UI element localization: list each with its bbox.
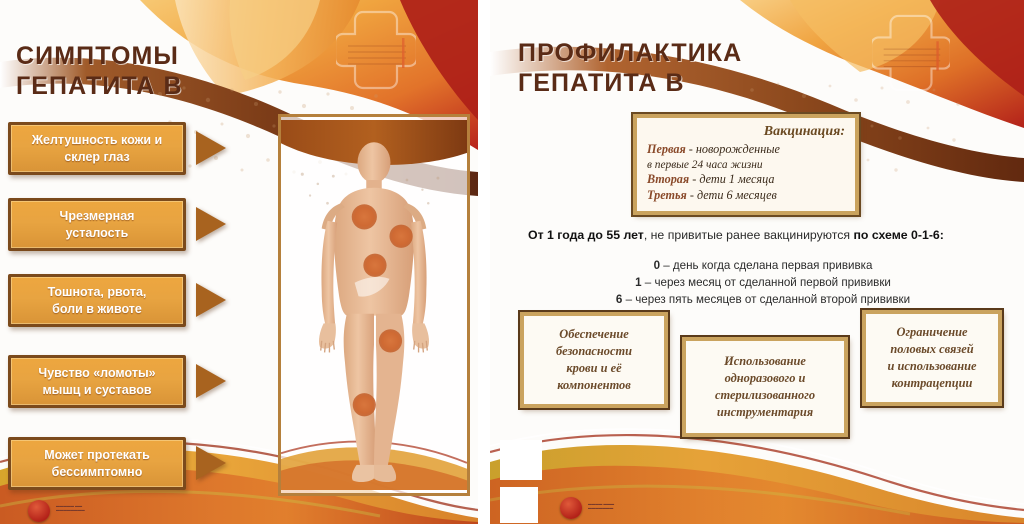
prevention-2-line2: одноразового и [715,370,815,387]
prevention-3-line2: половых связей [888,341,977,358]
vaccination-row-3-dash: - [687,188,697,202]
vaccination-row-3: Третья - дети 6 месяцев [647,188,845,204]
vaccination-row-2-text: дети 1 месяца [699,172,774,186]
medical-cross-icon [336,8,416,92]
symptom-1-line2: склер глаз [17,149,177,166]
prevention-1-line1: Обеспечение [556,326,632,343]
body-diagram-frame [278,114,470,496]
symptom-1-line1: Желтушность кожи и [17,132,177,149]
vaccination-row-1: Первая - новорожденные в первые 24 часа … [647,142,845,172]
symptom-3-line1: Тошнота, рвота, [17,284,177,301]
arrow-icon-1 [196,131,226,165]
vaccination-row-3-label: Третья [647,188,687,202]
symptom-2-line2: усталость [17,225,177,242]
prevention-title: ПРОФИЛАКТИКА ГЕПАТИТА В [518,38,742,98]
scheme-line-2-text: – через месяц от сделанной первой привив… [642,276,891,289]
qr-code-bottom[interactable] [500,487,538,523]
body-spot-chest [352,204,377,229]
symptoms-title-line1: СИМПТОМЫ [16,42,179,70]
body-spot-abdomen [363,254,386,277]
vaccination-row-1-dash: - [686,142,696,156]
prevention-box-blood-safety[interactable]: Обеспечение безопасности крови и её комп… [520,312,668,408]
arrow-icon-5 [196,446,226,480]
prevention-2-line3: стерилизованного [715,387,815,404]
prevention-2-line1: Использование [715,353,815,370]
prevention-3-line1: Ограничение [888,324,977,341]
vaccination-row-2-dash: - [689,172,699,186]
scheme-line-2: 1 – через месяц от сделанной первой прив… [528,275,998,292]
prevention-box-sterile-instruments[interactable]: Использование одноразового и стерилизова… [682,337,848,437]
scheme-line-1: 0 – день когда сделана первая прививка [528,258,998,275]
prevention-1-line2: безопасности [556,343,632,360]
red-circle-logo-1 [28,500,50,522]
symptom-3-line2: боли в животе [17,301,177,318]
medical-cross-icon [872,12,950,94]
human-body-figure [281,117,467,493]
vaccination-row-2: Вторая - дети 1 месяца [647,172,845,188]
logo-caption-2: ▬▬▬▬ ▬▬▬▬▬▬▬▬▬▬ [588,502,650,511]
scheme-headline: От 1 года до 55 лет, не привитые ранее в… [528,228,998,244]
vaccination-heading: Вакцинация: [647,124,845,140]
scheme-headline-bold2: по схеме 0-1-6: [853,228,943,242]
qr-code-top[interactable] [500,440,542,480]
symptoms-panel: СИМПТОМЫ ГЕПАТИТА В Желтушность кожи и с… [0,0,478,524]
arrow-icon-3 [196,283,226,317]
symptom-2-line1: Чрезмерная [17,208,177,225]
body-spot-shoulder [390,225,413,248]
arrow-icon-4 [196,364,226,398]
symptom-5-line1: Может протекать [17,447,177,464]
scheme-lines: 0 – день когда сделана первая прививка 1… [528,258,998,308]
vaccination-row-2-label: Вторая [647,172,689,186]
scheme-headline-bold1: От 1 года до 55 лет [528,228,644,242]
arrow-icon-2 [196,207,226,241]
vaccination-row-3-text: дети 6 месяцев [697,188,777,202]
prevention-box-contraception[interactable]: Ограничение половых связей и использован… [862,310,1002,406]
scheme-line-3-text: – через пять месяцев от сделанной второй… [622,293,910,306]
body-spot-knee [353,393,376,416]
vaccination-row-1-text: новорожденные [696,142,780,156]
prevention-1-line3: крови и её [556,360,632,377]
symptom-box-2[interactable]: Чрезмерная усталость [8,198,186,251]
red-circle-logo-2 [560,497,582,519]
symptoms-title-line2: ГЕПАТИТА В [16,72,183,102]
symptom-box-3[interactable]: Тошнота, рвота, боли в животе [8,274,186,327]
symptom-4-line1: Чувство «ломоты» [17,365,177,382]
prevention-3-line3: и использование [888,358,977,375]
prevention-panel: ПРОФИЛАКТИКА ГЕПАТИТА В Вакцинация: Перв… [490,0,1024,524]
hepatitis-b-poster: СИМПТОМЫ ГЕПАТИТА В Желтушность кожи и с… [0,0,1024,524]
prevention-title-line1: ПРОФИЛАКТИКА [518,39,742,67]
symptom-5-line2: бессимптомно [17,464,177,481]
body-spot-thigh [379,329,402,352]
prevention-3-line4: контрацепции [888,375,977,392]
symptom-box-5[interactable]: Может протекать бессимптомно [8,437,186,490]
scheme-line-3: 6 – через пять месяцев от сделанной втор… [528,292,998,309]
symptom-box-4[interactable]: Чувство «ломоты» мышц и суставов [8,355,186,408]
symptoms-title: СИМПТОМЫ ГЕПАТИТА В [16,42,183,101]
symptom-4-line2: мышц и суставов [17,382,177,399]
scheme-line-1-text: – день когда сделана первая прививка [660,259,872,272]
prevention-1-line4: компонентов [556,377,632,394]
vaccination-schedule-box: Вакцинация: Первая - новорожденные в пер… [633,114,859,215]
vaccination-row-1-label: Первая [647,142,686,156]
symptom-box-1[interactable]: Желтушность кожи и склер глаз [8,122,186,175]
logo-caption-1: ▬▬▬▬▬ ▬▬▬▬▬▬▬▬▬▬ [56,504,118,513]
prevention-2-line4: инструментария [715,404,815,421]
vaccination-row-1-sub: в первые 24 часа жизни [647,158,845,173]
prevention-title-line2: ГЕПАТИТА В [518,68,742,98]
scheme-headline-normal: , не привитые ранее вакцинируются [644,228,854,242]
